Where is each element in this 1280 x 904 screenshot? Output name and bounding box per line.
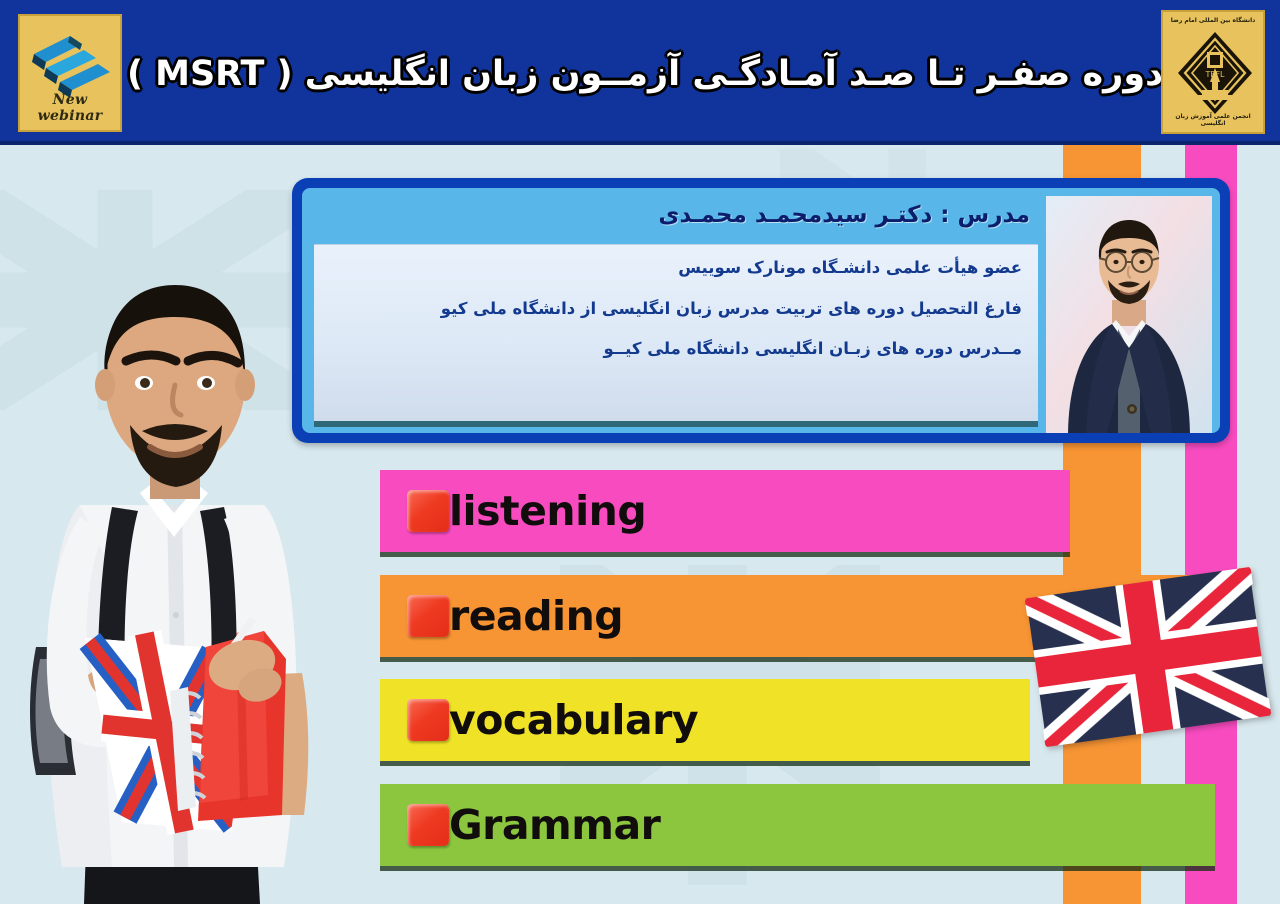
- poster-header: New webinar دوره صفـر تـا صـد آمـادگـی آ…: [0, 0, 1280, 145]
- instructor-bio-line: فارغ التحصیل دوره های تربیت مدرس زبان ان…: [330, 296, 1022, 322]
- instructor-bio-line: عضو هیأت علمی دانشـگاه مونارک سوییس: [330, 255, 1022, 281]
- skill-bar-listening[interactable]: listening: [380, 470, 1070, 552]
- skill-label: vocabulary: [449, 696, 698, 744]
- skill-bar-vocabulary[interactable]: vocabulary: [380, 679, 1030, 761]
- page-title: دوره صفـر تـا صـد آمـادگـی آزمــون زبان …: [140, 30, 1150, 118]
- new-webinar-logo: New webinar: [18, 14, 122, 132]
- new-webinar-caption: New webinar: [20, 92, 120, 124]
- uk-flag-decoration: [1025, 567, 1272, 747]
- webinar-swoosh-icon: [26, 24, 118, 102]
- skill-marker-icon: [407, 595, 449, 637]
- university-bottom-text: انجمن علمی آموزش زبان انگلیسی: [1163, 113, 1263, 127]
- skill-marker-icon: [407, 490, 449, 532]
- student-photo: [0, 255, 367, 904]
- instructor-bio-line: مــدرس دوره های زبـان انگلیسی دانشگاه مل…: [330, 336, 1022, 362]
- skill-marker-icon: [407, 699, 449, 741]
- instructor-card-inner: مدرس : دکتـر سیدمحمـد محمـدی عضو هیأت عل…: [302, 188, 1220, 433]
- svg-text:TEFL: TEFL: [1205, 70, 1226, 79]
- university-top-text: دانشگاه بین المللی امام رضا: [1163, 17, 1263, 24]
- skill-bar-grammar[interactable]: Grammar: [380, 784, 1215, 866]
- university-emblem-logo: دانشگاه بین المللی امام رضا TEFL انجمن ع…: [1161, 10, 1265, 134]
- poster-root: New webinar دوره صفـر تـا صـد آمـادگـی آ…: [0, 0, 1280, 904]
- skill-label: reading: [449, 592, 623, 640]
- university-emblem-icon: TEFL: [1176, 30, 1254, 116]
- skill-marker-icon: [407, 804, 449, 846]
- instructor-bio: عضو هیأت علمی دانشـگاه مونارک سوییس فارغ…: [314, 244, 1038, 421]
- skill-label: Grammar: [449, 801, 660, 849]
- instructor-name: مدرس : دکتـر سیدمحمـد محمـدی: [320, 202, 1030, 228]
- skill-label: listening: [449, 487, 646, 535]
- instructor-portrait: [1046, 196, 1212, 433]
- instructor-card: مدرس : دکتـر سیدمحمـد محمـدی عضو هیأت عل…: [292, 178, 1230, 443]
